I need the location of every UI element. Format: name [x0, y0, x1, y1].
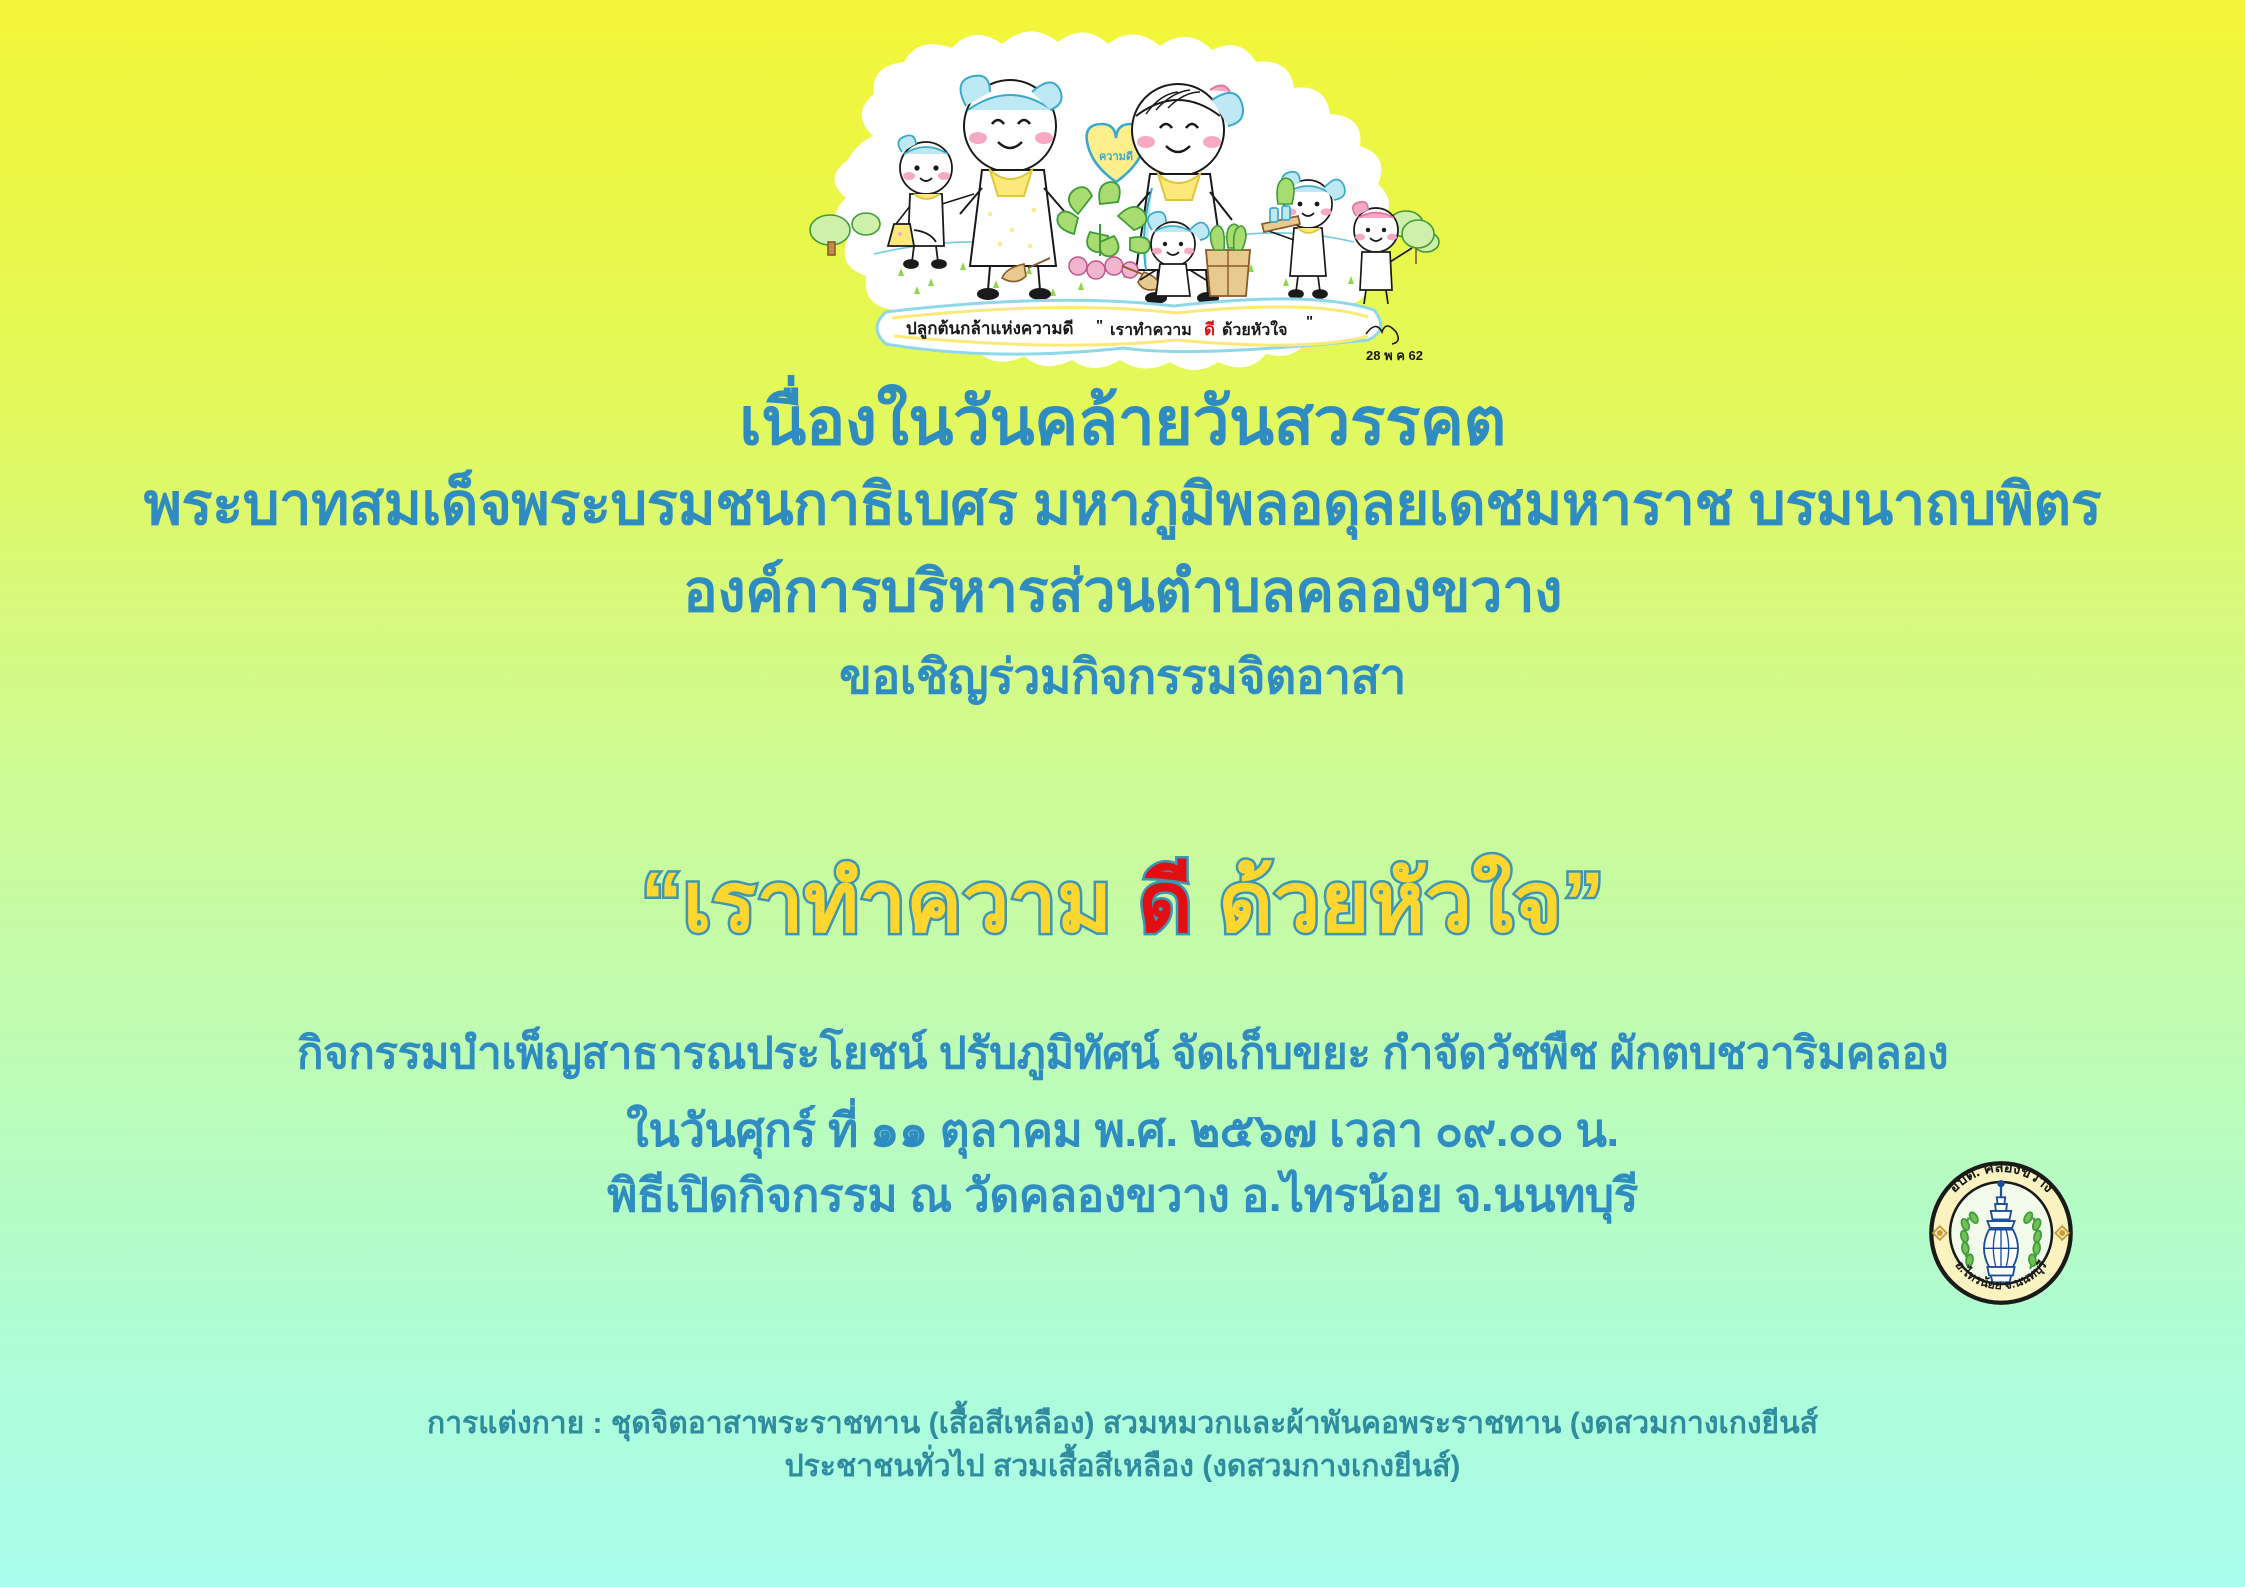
slogan-quote-open: “ — [641, 855, 683, 949]
crate-seedlings — [1210, 224, 1246, 250]
caption-quote-close: " — [1306, 313, 1313, 330]
dress-code-line-1: การแต่งกาย : ชุดจิตอาสาพระราชทาน (เสื้อส… — [0, 1403, 2245, 1446]
tray-sapling — [1277, 178, 1294, 204]
dress-code-line-2: ประชาชนทั่วไป สวมเสื้อสีเหลือง (งดสวมกาง… — [0, 1446, 2245, 1489]
right-tree — [1402, 220, 1434, 264]
signature-date: 28 พ ค 62 — [1366, 348, 1423, 363]
headline-line-1: เนื่องในวันคล้ายวันสวรรคต — [0, 386, 2245, 457]
caption-quote-open: " — [1096, 317, 1103, 334]
slogan-quote-close: ” — [1562, 855, 1604, 949]
activity-block: กิจกรรมบำเพ็ญสาธารณประโยชน์ ปรับภูมิทัศน… — [0, 1028, 2245, 1223]
activity-venue: พิธีเปิดกิจกรรม ณ วัดคลองขวาง อ.ไทรน้อย … — [0, 1168, 2245, 1223]
slogan-highlight-word: ดี — [1138, 855, 1193, 949]
plant-crate — [1206, 250, 1250, 296]
activity-datetime: ในวันศุกร์ ที่ ๑๑ ตุลาคม พ.ศ. ๒๕๖๗ เวลา … — [0, 1103, 2245, 1158]
headline-line-3: องค์การบริหารส่วนตำบลคลองขวาง — [0, 560, 2245, 625]
caption-quote-pre: เราทำความ — [1110, 321, 1192, 339]
caption-quote-post: ด้วยหัวใจ — [1222, 320, 1287, 339]
heart-label: ความดี — [1098, 150, 1132, 163]
slogan-block: “เราทำความดีด้วยหัวใจ” — [0, 855, 2245, 949]
caption-banner: ปลูกต้นกล้าแห่งความดี " เราทำความ ดี ด้ว… — [877, 299, 1381, 354]
headline-block: เนื่องในวันคล้ายวันสวรรคต พระบาทสมเด็จพร… — [0, 386, 2245, 705]
activity-description: กิจกรรมบำเพ็ญสาธารณประโยชน์ ปรับภูมิทัศน… — [0, 1028, 2245, 1081]
caption-left-text: ปลูกต้นกล้าแห่งความดี — [906, 318, 1074, 340]
poster-canvas: ความดี — [0, 0, 2245, 1587]
slogan-part-1: เราทำความ — [683, 855, 1112, 949]
organization-seal-logo: อบต. คลองขวาง อ.ไทรน้อย จ.นนทบุรี — [1916, 1148, 2086, 1318]
headline-line-2: พระบาทสมเด็จพระบรมชนกาธิเบศร มหาภูมิพลอด… — [0, 473, 2245, 538]
slogan-part-2: ด้วยหัวใจ — [1219, 855, 1563, 949]
caption-quote-red: ดี — [1204, 319, 1215, 339]
dress-code-footer: การแต่งกาย : ชุดจิตอาสาพระราชทาน (เสื้อส… — [0, 1403, 2245, 1488]
volunteer-family-planting-illustration: ความดี — [778, 18, 1468, 378]
headline-line-4: ขอเชิญร่วมกิจกรรมจิตอาสา — [0, 651, 2245, 705]
